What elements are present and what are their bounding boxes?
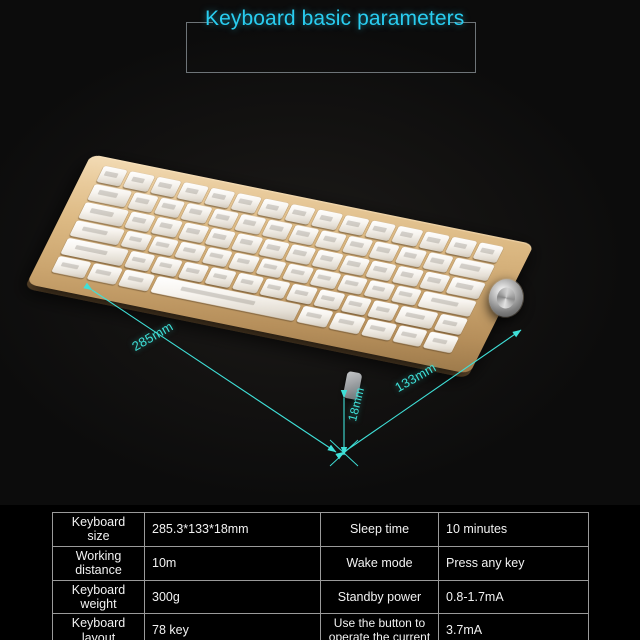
spec-value-sleep-time: 10 minutes [439, 513, 589, 547]
table-row: Keyboard weight 300g Standby power 0.8-1… [53, 580, 589, 614]
spec-value-keyboard-size: 285.3*133*18mm [145, 513, 321, 547]
table-row: Keyboard size 285.3*133*18mm Sleep time … [53, 513, 589, 547]
spec-label-keyboard-layout: Keyboard layout [53, 614, 145, 640]
product-spec-page: Keyboard basic parameters [0, 0, 640, 640]
spec-label-working-distance: Working distance [53, 546, 145, 580]
spec-label-sleep-time: Sleep time [321, 513, 439, 547]
spec-value-keyboard-layout: 78 key [145, 614, 321, 640]
spec-table-body: Keyboard size 285.3*133*18mm Sleep time … [53, 513, 589, 640]
product-photo-region: Keyboard basic parameters [0, 0, 640, 505]
table-row: Keyboard layout 78 key Use the button to… [53, 614, 589, 640]
spec-label-keyboard-size: Keyboard size [53, 513, 145, 547]
spec-value-working-distance: 10m [145, 546, 321, 580]
table-row: Working distance 10m Wake mode Press any… [53, 546, 589, 580]
spec-value-wake-mode: Press any key [439, 546, 589, 580]
specifications-table: Keyboard size 285.3*133*18mm Sleep time … [52, 512, 589, 640]
spec-label-wake-mode: Wake mode [321, 546, 439, 580]
spec-label-operating-current: Use the button to operate the current [321, 614, 439, 640]
spec-value-operating-current: 3.7mA [439, 614, 589, 640]
spec-label-keyboard-weight: Keyboard weight [53, 580, 145, 614]
spec-value-keyboard-weight: 300g [145, 580, 321, 614]
spec-label-standby-power: Standby power [321, 580, 439, 614]
spec-value-standby-power: 0.8-1.7mA [439, 580, 589, 614]
keyboard-body-group [58, 128, 528, 418]
keyboard-photo [0, 0, 640, 505]
spec-table-region: Keyboard size 285.3*133*18mm Sleep time … [0, 505, 640, 640]
